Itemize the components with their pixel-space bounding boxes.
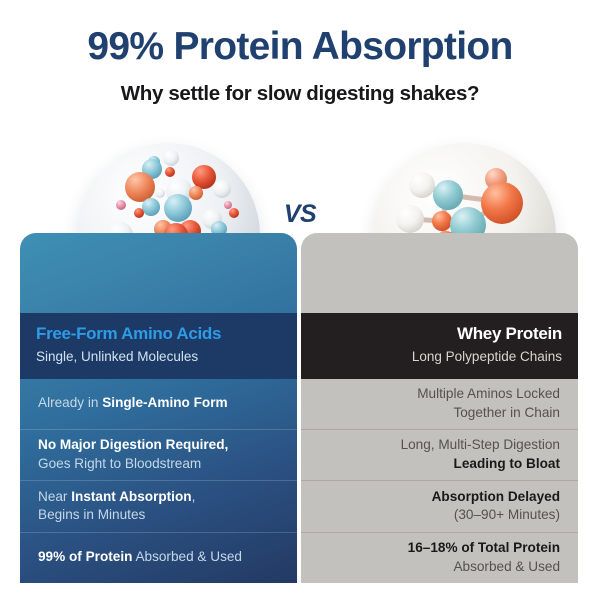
- row-line: Goes Right to Bloodstream: [38, 455, 279, 474]
- panel-right-row-4: 16–18% of Total ProteinAbsorbed & Used: [301, 532, 578, 583]
- row-line: Multiple Aminos Locked: [319, 385, 560, 404]
- panel-right-rows: Multiple Aminos LockedTogether in Chain …: [301, 379, 578, 583]
- panel-right-image-spacer: [301, 233, 578, 313]
- row-line: 99% of Protein Absorbed & Used: [38, 548, 279, 567]
- panel-left-row-1: Already in Single-Amino Form: [20, 379, 297, 429]
- panel-whey-protein: Whey Protein Long Polypeptide Chains Mul…: [301, 233, 578, 583]
- page-subtitle: Why settle for slow digesting shakes?: [0, 82, 600, 106]
- panel-left-row-4: 99% of Protein Absorbed & Used: [20, 532, 297, 583]
- panel-right-row-1: Multiple Aminos LockedTogether in Chain: [301, 379, 578, 429]
- panel-left-image-spacer: [20, 233, 297, 313]
- page-title: 99% Protein Absorption: [0, 26, 600, 68]
- row-line: Already in Single-Amino Form: [38, 394, 279, 413]
- row-line: No Major Digestion Required,: [38, 436, 279, 455]
- row-line: Absorption Delayed: [319, 488, 560, 507]
- panel-left-title: Free-Form Amino Acids: [36, 324, 281, 344]
- panel-left-rows: Already in Single-Amino Form No Major Di…: [20, 379, 297, 583]
- panel-right-subtitle: Long Polypeptide Chains: [317, 348, 562, 366]
- panel-free-form-amino-acids: Free-Form Amino Acids Single, Unlinked M…: [20, 233, 297, 583]
- infographic-page: 99% Protein Absorption Why settle for sl…: [0, 0, 600, 600]
- panel-right-header: Whey Protein Long Polypeptide Chains: [301, 313, 578, 379]
- panel-right-row-2: Long, Multi-Step DigestionLeading to Blo…: [301, 429, 578, 480]
- panel-left-row-2: No Major Digestion Required,Goes Right t…: [20, 429, 297, 480]
- vs-label: VS: [0, 200, 600, 229]
- row-line: Long, Multi-Step Digestion: [319, 436, 560, 455]
- panel-left-subtitle: Single, Unlinked Molecules: [36, 348, 281, 366]
- row-line: Begins in Minutes: [38, 506, 279, 525]
- panel-left-header: Free-Form Amino Acids Single, Unlinked M…: [20, 313, 297, 379]
- panel-right-row-3: Absorption Delayed(30–90+ Minutes): [301, 480, 578, 531]
- row-line: Near Instant Absorption,: [38, 488, 279, 507]
- panel-left-row-3: Near Instant Absorption,Begins in Minute…: [20, 480, 297, 531]
- row-line: 16–18% of Total Protein: [319, 539, 560, 558]
- row-line: Leading to Bloat: [319, 455, 560, 474]
- headline-block: 99% Protein Absorption Why settle for sl…: [0, 26, 600, 106]
- panel-right-title: Whey Protein: [317, 324, 562, 344]
- comparison-panels: Free-Form Amino Acids Single, Unlinked M…: [20, 233, 578, 583]
- row-line: Absorbed & Used: [319, 558, 560, 577]
- row-line: (30–90+ Minutes): [319, 506, 560, 525]
- row-line: Together in Chain: [319, 404, 560, 423]
